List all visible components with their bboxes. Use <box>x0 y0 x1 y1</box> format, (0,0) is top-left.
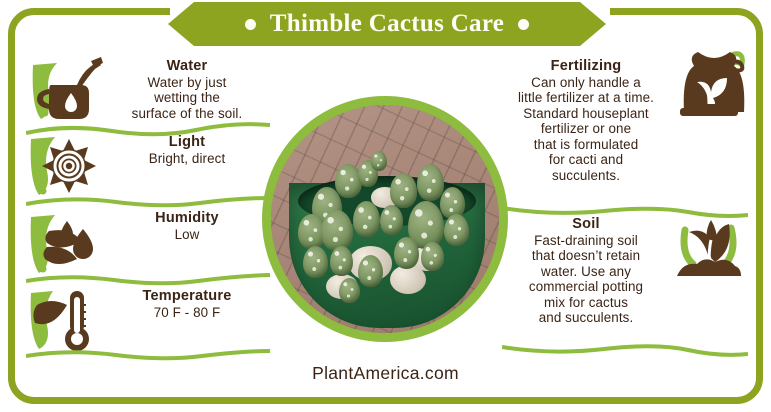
photo-cactus <box>421 242 444 272</box>
photo-cactus <box>380 205 403 235</box>
watering-can-icon <box>26 54 104 126</box>
care-item-humidity-text: Humidity Low <box>104 206 270 242</box>
care-item-humidity-body: Low <box>104 227 270 243</box>
care-item-water-body: Water by just wetting the surface of the… <box>104 75 270 122</box>
right-care-column: Fertilizing Can only handle a little fer… <box>502 54 748 352</box>
care-item-soil-text: Soil Fast-draining soil that doesn’t ret… <box>502 212 670 326</box>
photo-cactus <box>417 164 444 200</box>
care-item-temperature-body: 70 F - 80 F <box>104 305 270 321</box>
header-banner: Thimble Cactus Care <box>168 2 606 46</box>
care-item-light-body: Bright, direct <box>104 151 270 167</box>
photo-cactus <box>390 173 417 207</box>
wave-divider <box>502 342 748 358</box>
care-item-light: Light Bright, direct <box>26 130 270 206</box>
care-item-temperature-title: Temperature <box>104 288 270 305</box>
care-item-temperature-text: Temperature 70 F - 80 F <box>104 284 270 320</box>
photo-cactus <box>339 278 360 303</box>
seedling-soil-icon <box>670 212 748 284</box>
left-care-column: Water Water by just wetting the surface … <box>26 54 270 360</box>
care-item-fertilizing-body: Can only handle a little fertilizer at a… <box>502 75 670 184</box>
care-item-temperature: Temperature 70 F - 80 F <box>26 284 270 360</box>
photo-cactus <box>303 246 328 278</box>
fertilizer-sack-icon <box>670 54 748 126</box>
wave-divider <box>26 348 270 364</box>
photo-cactus <box>330 246 353 276</box>
photo-cactus <box>358 255 383 287</box>
photo-cactus <box>444 214 469 246</box>
leaf-droplet-icon <box>26 206 104 278</box>
photo-cactus <box>371 151 387 172</box>
care-item-humidity: Humidity Low <box>26 206 270 284</box>
website-url: PlantAmerica.com <box>312 363 459 383</box>
footer: PlantAmerica.com <box>0 363 771 384</box>
page-title: Thimble Cactus Care <box>270 10 504 38</box>
infographic-card: Thimble Cactus Care Water Water by just … <box>0 0 771 412</box>
plant-photo-ring: Thimble cactus cluster growing in a gree… <box>262 96 508 342</box>
care-item-light-title: Light <box>104 134 270 151</box>
bullet-dot-icon-right <box>518 19 529 30</box>
photo-cactus <box>394 237 419 269</box>
thermometer-icon <box>26 284 104 356</box>
care-item-water-title: Water <box>104 58 270 75</box>
care-item-light-text: Light Bright, direct <box>104 130 270 166</box>
care-item-soil: Soil Fast-draining soil that doesn’t ret… <box>502 212 748 352</box>
bullet-dot-icon-left <box>245 19 256 30</box>
sun-icon <box>26 130 104 202</box>
care-item-water: Water Water by just wetting the surface … <box>26 54 270 130</box>
care-item-soil-body: Fast-draining soil that doesn’t retain w… <box>502 233 670 326</box>
care-item-fertilizing-title: Fertilizing <box>502 58 670 75</box>
care-item-soil-title: Soil <box>502 216 670 233</box>
plant-photo: Thimble cactus cluster growing in a gree… <box>271 105 499 333</box>
care-item-fertilizing: Fertilizing Can only handle a little fer… <box>502 54 748 212</box>
care-item-water-text: Water Water by just wetting the surface … <box>104 54 270 121</box>
photo-cactus <box>321 210 353 251</box>
care-item-fertilizing-text: Fertilizing Can only handle a little fer… <box>502 54 670 184</box>
care-item-humidity-title: Humidity <box>104 210 270 227</box>
